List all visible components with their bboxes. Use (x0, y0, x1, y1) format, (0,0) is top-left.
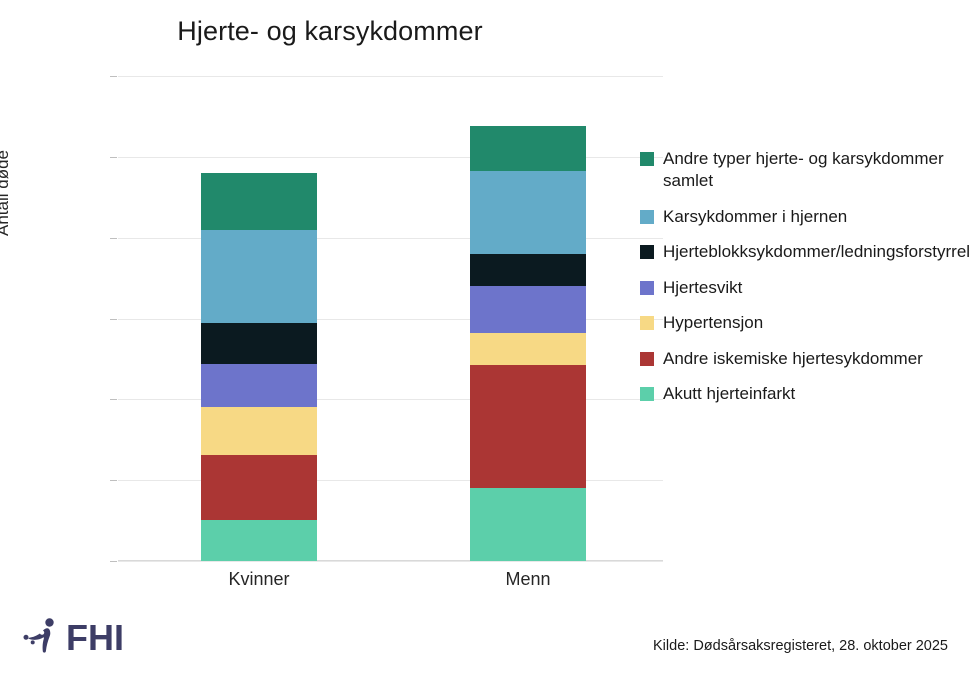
bar-segment[interactable] (470, 488, 586, 561)
x-tick-label: Menn (428, 569, 628, 590)
bar-segment[interactable] (201, 520, 317, 561)
legend-item[interactable]: Hypertensjon (640, 312, 965, 334)
legend-item-label: Karsykdommer i hjernen (663, 206, 847, 228)
legend-item-label: Andre iskemiske hjertesykdommer (663, 348, 923, 370)
chart-page: Hjerte- og karsykdommer Antall døde 0100… (0, 0, 970, 680)
y-tick-mark (110, 157, 117, 158)
fhi-logo: FHI (18, 613, 124, 662)
y-tick-mark (110, 76, 117, 77)
bar-segment[interactable] (470, 254, 586, 286)
y-axis-title: Antall døde (0, 150, 13, 236)
bar-segment[interactable] (470, 126, 586, 170)
legend-swatch-icon (640, 352, 654, 366)
y-tick-mark (110, 561, 117, 562)
plot-area: 0100020003000400050006000 KvinnerMenn (118, 76, 663, 561)
legend-item-label: Andre typer hjerte- og karsykdommer saml… (663, 148, 965, 193)
legend-item-label: Hypertensjon (663, 312, 763, 334)
legend-swatch-icon (640, 316, 654, 330)
gridline (118, 561, 663, 562)
bar-segment[interactable] (470, 333, 586, 365)
chart-legend: Andre typer hjerte- og karsykdommer saml… (640, 148, 965, 419)
source-note: Kilde: Dødsårsaksregisteret, 28. oktober… (653, 638, 948, 654)
legend-item[interactable]: Andre iskemiske hjertesykdommer (640, 348, 965, 370)
y-tick-mark (110, 238, 117, 239)
page-title: Hjerte- og karsykdommer (0, 16, 660, 47)
legend-item[interactable]: Hjerteblokksykdommer/ledningsforstyrrels… (640, 241, 965, 263)
y-tick-mark (110, 319, 117, 320)
legend-item[interactable]: Karsykdommer i hjernen (640, 206, 965, 228)
legend-item-label: Akutt hjerteinfarkt (663, 383, 795, 405)
bar-segment[interactable] (201, 173, 317, 230)
legend-item-label: Hjerteblokksykdommer/ledningsforstyrrels… (663, 241, 970, 263)
legend-item[interactable]: Akutt hjerteinfarkt (640, 383, 965, 405)
bar-segment[interactable] (201, 323, 317, 364)
legend-item-label: Hjertesvikt (663, 277, 742, 299)
y-tick-mark (110, 480, 117, 481)
legend-swatch-icon (640, 245, 654, 259)
legend-swatch-icon (640, 152, 654, 166)
legend-swatch-icon (640, 281, 654, 295)
bar-segment[interactable] (470, 171, 586, 254)
y-tick-mark (110, 399, 117, 400)
legend-item[interactable]: Andre typer hjerte- og karsykdommer saml… (640, 148, 965, 193)
fhi-logo-mark (18, 613, 62, 662)
bar-stack-kvinner[interactable] (201, 76, 317, 561)
legend-swatch-icon (640, 210, 654, 224)
x-tick-label: Kvinner (159, 569, 359, 590)
bar-segment[interactable] (470, 286, 586, 333)
bar-segment[interactable] (201, 230, 317, 323)
legend-swatch-icon (640, 387, 654, 401)
bar-stack-menn[interactable] (470, 76, 586, 561)
bar-segment[interactable] (201, 455, 317, 520)
bar-segment[interactable] (201, 407, 317, 456)
bar-segment[interactable] (470, 365, 586, 488)
legend-item[interactable]: Hjertesvikt (640, 277, 965, 299)
fhi-logo-wordmark: FHI (66, 620, 124, 656)
bar-segment[interactable] (201, 364, 317, 407)
